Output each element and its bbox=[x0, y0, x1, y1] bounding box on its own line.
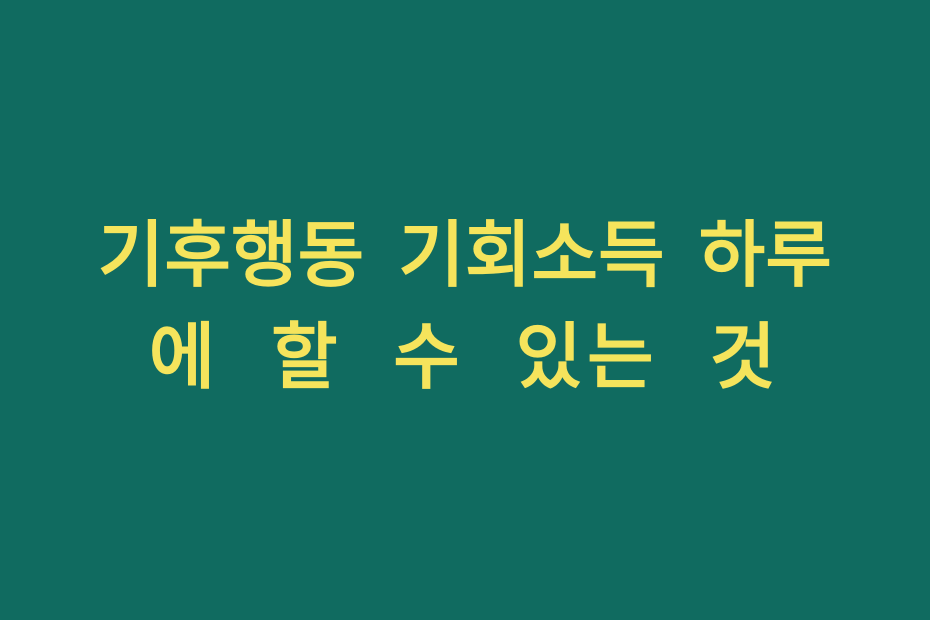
banner-canvas: 기후행동 기회소득 하루 에 할 수 있는 것 bbox=[0, 0, 930, 620]
headline-line-2: 에 할 수 있는 것 bbox=[65, 306, 865, 408]
page-title: 기후행동 기회소득 하루 에 할 수 있는 것 bbox=[65, 204, 865, 408]
headline-line-1: 기후행동 기회소득 하루 bbox=[65, 204, 865, 306]
